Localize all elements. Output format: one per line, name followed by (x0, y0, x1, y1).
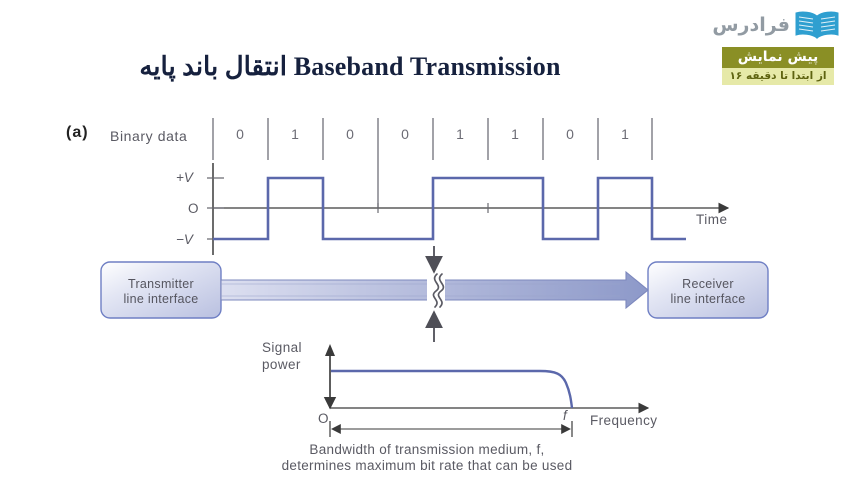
spectrum-xlabel: Frequency (590, 413, 657, 428)
spectrum-axes (325, 344, 648, 408)
bit-value-2: 0 (339, 126, 361, 142)
receiver-box-label: Receiver line interface (650, 277, 766, 307)
axis-label-minus-v: −V (176, 232, 193, 247)
figure-caption-line2: determines maximum bit rate that can be … (0, 458, 854, 473)
spectrum-ylabel-line2: power (262, 357, 301, 372)
panel-letter: (a) (66, 124, 89, 142)
axis-label-time: Time (696, 212, 728, 227)
receiver-line1: Receiver (682, 277, 734, 291)
binary-data-label: Binary data (110, 128, 187, 144)
page-title-latin: Baseband Transmission (294, 52, 561, 81)
brand-name: فرادرس (712, 14, 790, 36)
bit-value-7: 1 (614, 126, 636, 142)
preview-badge: پیش نمایش (722, 47, 834, 68)
open-book-icon (794, 10, 840, 40)
bit-value-1: 1 (284, 126, 306, 142)
spectrum-curve (331, 371, 572, 408)
bit-value-5: 1 (504, 126, 526, 142)
page-title: Baseband Transmission انتقال باند پایه (0, 52, 700, 82)
spectrum-origin-label: O (318, 411, 329, 426)
bit-value-3: 0 (394, 126, 416, 142)
axis-label-zero: O (188, 201, 199, 216)
bit-value-0: 0 (229, 126, 251, 142)
spectrum-cutoff-label: f (563, 408, 567, 423)
page-title-rtl: انتقال باند پایه (139, 52, 287, 81)
preview-duration-badge: از ابتدا تا دقیقه ۱۶ (722, 68, 834, 85)
transmitter-line2: line interface (123, 292, 198, 306)
brand-watermark: فرادرس پیش نمایش از ابتدا تا دقیقه ۱۶ (708, 8, 840, 85)
bandwidth-measure (330, 421, 572, 437)
spectrum-ylabel-line1: Signal (262, 340, 302, 355)
squiggle-break-icon (427, 274, 445, 307)
transmitter-box-label: Transmitter line interface (103, 277, 219, 307)
transmitter-line1: Transmitter (128, 277, 194, 291)
receiver-line2: line interface (670, 292, 745, 306)
bit-value-4: 1 (449, 126, 471, 142)
bit-value-6: 0 (559, 126, 581, 142)
axis-label-plus-v: +V (176, 170, 193, 185)
figure-caption-line1: Bandwidth of transmission medium, f, (0, 442, 854, 457)
